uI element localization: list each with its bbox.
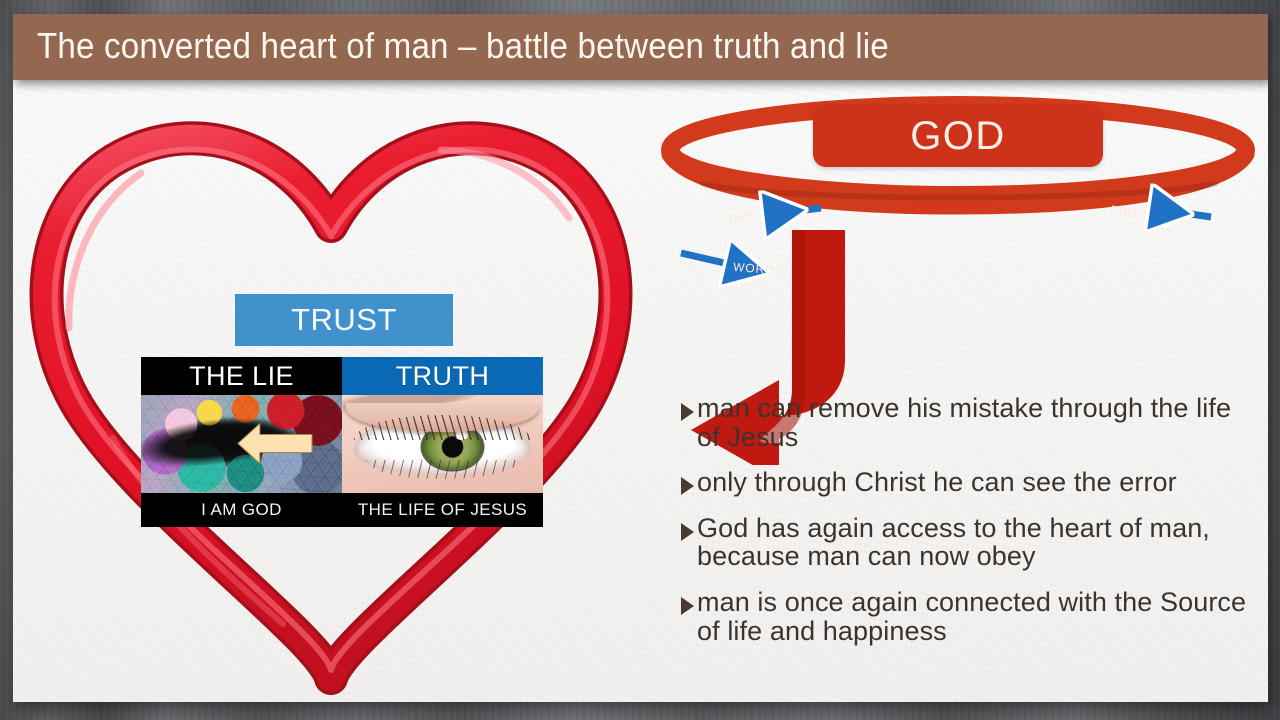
bullet-text: man can remove his mistake through the l… [697,394,1261,451]
list-item: man is once again connected with the Sou… [681,588,1261,645]
love-left-arrow-icon [771,208,821,214]
fruit-left-arrow-icon [1157,209,1211,217]
triangle-right-icon [681,523,694,541]
trust-banner: TRUST [235,294,453,346]
slide-canvas: TRUST THE LIE I AM [13,80,1268,702]
slide-stage: The converted heart of man – battle betw… [0,0,1280,720]
bullet-text: only through Christ he can see the error [697,468,1177,497]
bullet-text: God has again access to the heart of man… [697,514,1261,571]
eye-lower-lashes [366,460,519,480]
bullet-text: man is once again connected with the Sou… [697,588,1261,645]
god-label: GOD [910,114,1006,159]
lie-image [141,395,342,493]
comparison-column-truth: TRUTH THE LIFE OF JESUS [342,357,543,527]
triangle-right-icon [681,403,694,421]
list-item: God has again access to the heart of man… [681,514,1261,571]
bullet-list: man can remove his mistake through the l… [681,394,1261,662]
green-human-eye-image [342,395,543,493]
truth-header-label: TRUTH [396,361,489,392]
page-title: The converted heart of man – battle betw… [37,25,889,67]
list-item: man can remove his mistake through the l… [681,394,1261,451]
triangle-right-icon [681,477,694,495]
truth-header: TRUTH [342,357,543,395]
lie-header-label: THE LIE [189,361,294,392]
list-item: only through Christ he can see the error [681,468,1261,497]
lie-caption: I AM GOD [141,493,342,527]
triangle-right-icon [681,597,694,615]
truth-caption-label: THE LIFE OF JESUS [358,500,527,520]
god-label-box: GOD [813,105,1103,167]
lie-caption-label: I AM GOD [201,500,282,520]
comparison-column-lie: THE LIE I AM GOD [141,357,342,527]
truth-caption: THE LIFE OF JESUS [342,493,543,527]
slide-title-bar: The converted heart of man – battle betw… [13,14,1268,80]
comparison-panel: THE LIE I AM GOD TR [141,357,543,527]
ring-label-love: LOVE [720,207,758,229]
cream-left-arrow-icon [217,421,334,466]
truth-image [342,395,543,493]
trust-banner-label: TRUST [291,302,397,338]
lie-header: THE LIE [141,357,342,395]
